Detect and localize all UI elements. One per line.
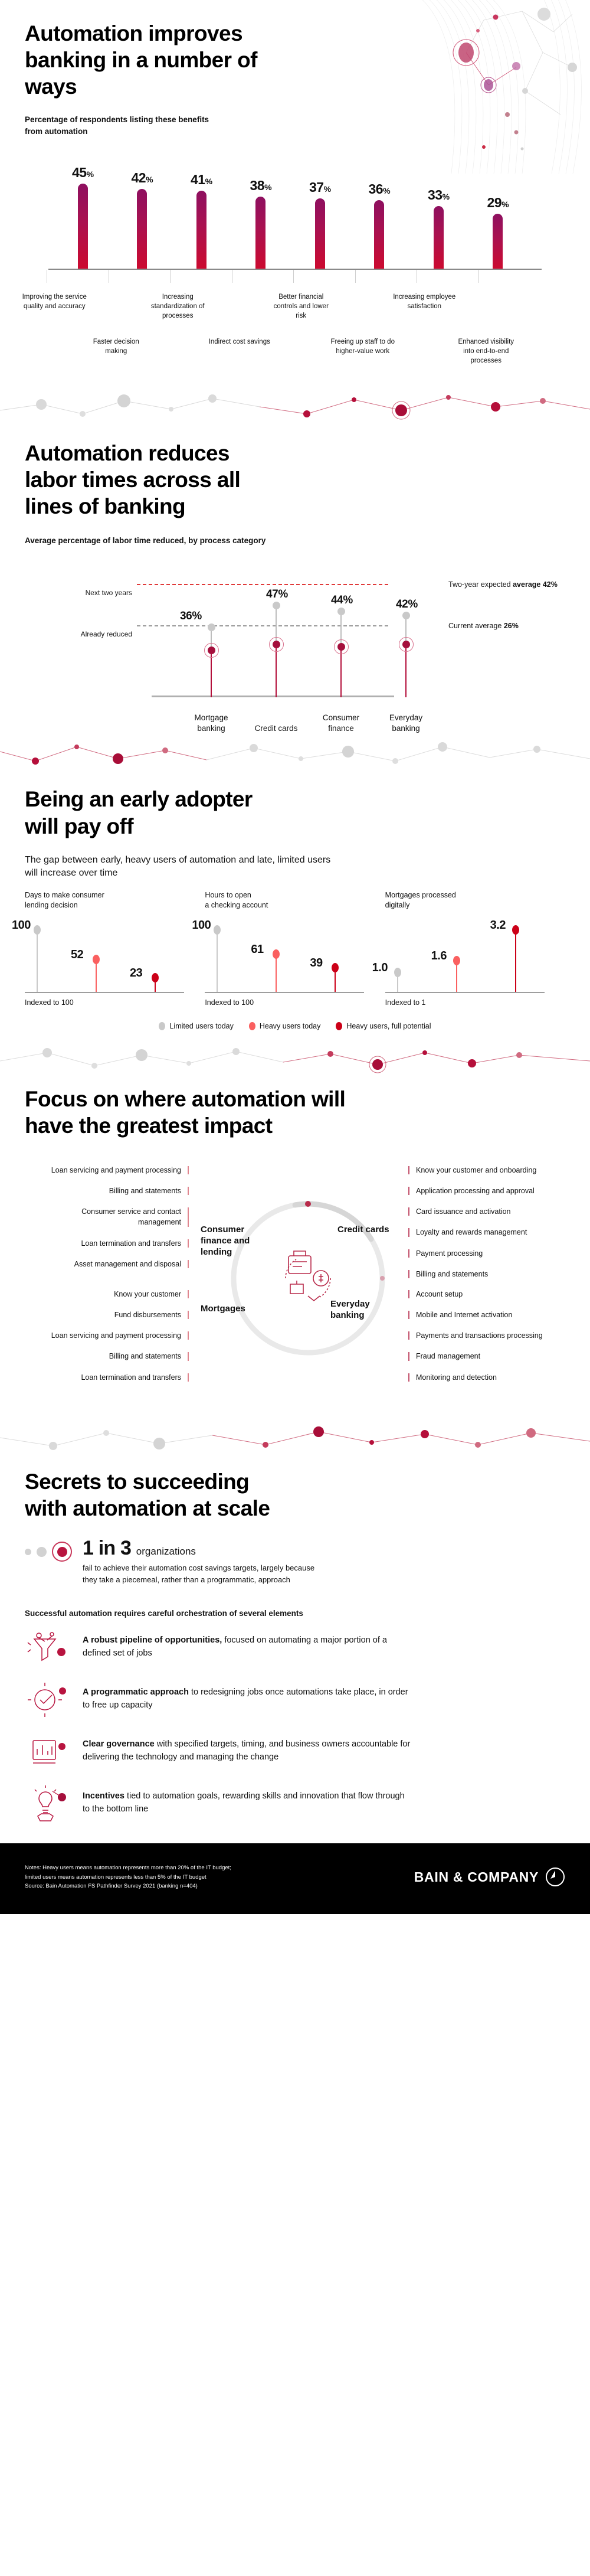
wheel-list-item: Loan termination and transfers <box>37 1372 189 1383</box>
bar-category-label: Better financial controls and lower risk <box>268 292 334 321</box>
element-text: A robust pipeline of opportunities, focu… <box>83 1628 413 1660</box>
wheel-list-item: Know your customer <box>37 1289 189 1300</box>
wheel-list-item: Mobile and Internet activation <box>408 1310 560 1320</box>
legend-label: Limited users today <box>169 1022 233 1030</box>
row-label-already-reduced: Already reduced <box>38 630 132 638</box>
bar-column: 29% <box>468 151 528 269</box>
adoption-value-label: 100 <box>192 919 211 932</box>
section3-subtitle: The gap between early, heavy users of au… <box>25 854 343 880</box>
adoption-stem <box>456 961 457 992</box>
element-text: Incentives tied to automation goals, rew… <box>83 1784 413 1816</box>
wheel-list-item: Loan servicing and payment processing <box>37 1330 189 1341</box>
labor-dot-future <box>402 612 410 619</box>
stat-block: 1 in 3 organizations fail to achieve the… <box>25 1538 565 1585</box>
note-current-line2: 26% <box>504 622 519 630</box>
note-current-line1: Current average <box>448 622 501 630</box>
labor-value-label: 36% <box>180 610 202 623</box>
wheel-list-item: Account setup <box>408 1289 560 1300</box>
bar-value-label: 38% <box>250 178 271 194</box>
adoption-value-label: 1.6 <box>431 949 447 963</box>
stat-dot-highlight <box>52 1542 72 1562</box>
labor-stem-current <box>340 647 342 698</box>
incentives-lightbulb-icon <box>25 1784 70 1823</box>
adoption-stem <box>217 930 218 992</box>
divider-network-1 <box>0 387 590 429</box>
bar <box>315 198 325 268</box>
stat-dot-small <box>25 1549 31 1555</box>
bar-tick <box>109 270 109 283</box>
labor-column: 36%Mortgage banking <box>211 628 212 698</box>
adoption-dot <box>93 955 100 964</box>
adoption-stem <box>335 968 336 992</box>
adoption-dot <box>214 925 221 935</box>
bar <box>78 184 88 269</box>
elements-heading: Successful automation requires careful o… <box>25 1609 565 1618</box>
element-row: A programmatic approach to redesigning j… <box>25 1680 565 1719</box>
labor-dot-current <box>402 641 410 648</box>
bar <box>493 214 503 269</box>
adoption-index-note: Indexed to 100 <box>205 998 385 1007</box>
element-bold: A programmatic approach <box>83 1687 189 1697</box>
stat-dot-medium <box>37 1547 47 1557</box>
legend-item: Heavy users today <box>249 1022 321 1030</box>
wheel-list-item: Fraud management <box>408 1351 560 1362</box>
labor-column: 42%Everyday banking <box>405 616 407 698</box>
wheel-list-item: Asset management and disposal <box>37 1259 189 1269</box>
labor-axis <box>152 696 394 697</box>
adoption-dot <box>453 956 460 965</box>
labor-dot-current <box>273 641 280 648</box>
bar <box>137 189 147 268</box>
bar-tick <box>417 270 417 283</box>
labor-dot-future <box>208 623 215 631</box>
legend-label: Heavy users today <box>260 1022 321 1030</box>
adoption-dot <box>273 949 280 959</box>
bar <box>434 206 444 269</box>
wheel-list-item: Loyalty and rewards management <box>408 1227 560 1238</box>
section-labor-times: Automation reduces labor times across al… <box>0 429 590 739</box>
divider-network-2 <box>0 735 590 778</box>
adoption-value-label: 1.0 <box>372 961 388 975</box>
wheel-list-item: Payment processing <box>408 1248 560 1259</box>
labor-stem-current <box>276 645 277 697</box>
adoption-stem <box>96 959 97 992</box>
bar-tick <box>293 270 294 283</box>
bar-category-label: Increasing employee satisfaction <box>391 292 457 312</box>
wheel-list-item: Card issuance and activation <box>408 1206 560 1217</box>
labor-dot-future <box>337 608 345 615</box>
footer-note-line2: limited users means automation represent… <box>25 1873 231 1882</box>
adoption-legend: Limited users todayHeavy users todayHeav… <box>25 1022 565 1030</box>
wheel-label-everyday-banking: Everyday banking <box>330 1298 389 1321</box>
labor-value-label: 44% <box>331 594 353 607</box>
note-two-year-line2: average 42% <box>513 580 558 589</box>
adoption-value-label: 3.2 <box>490 919 506 932</box>
adoption-panel-title: Days to make consumerlending decision <box>25 890 205 913</box>
adoption-value-label: 39 <box>310 956 322 970</box>
section1-title: Automation improves banking in a number … <box>25 20 296 100</box>
element-text: Clear governance with specified targets,… <box>83 1732 413 1764</box>
bar-value-label: 42% <box>131 170 153 186</box>
bain-logo: BAIN & COMPANY <box>414 1867 565 1887</box>
page-footer: Notes: Heavy users means automation repr… <box>0 1843 590 1914</box>
bar-category-label: Increasing standardization of processes <box>145 292 211 321</box>
current-average-line <box>137 625 388 626</box>
element-rest: tied to automation goals, rewarding skil… <box>83 1791 405 1813</box>
section-early-adopter: Being an early adopter will pay off The … <box>0 778 590 1030</box>
adoption-plot: 1.01.63.2 <box>385 921 565 992</box>
two-year-average-line <box>137 584 388 585</box>
wheel-list-item: Billing and statements <box>37 1186 189 1196</box>
wheel-label-consumer-finance: Consumer finance and lending <box>201 1224 257 1258</box>
adoption-baseline <box>25 992 184 993</box>
stat-dot-group <box>25 1538 72 1562</box>
footer-notes: Notes: Heavy users means automation repr… <box>25 1863 231 1891</box>
bar-tick <box>47 270 47 283</box>
adoption-stem <box>515 930 516 992</box>
divider-network-4 <box>0 1420 590 1462</box>
labor-value-label: 47% <box>266 588 288 601</box>
adoption-value-label: 23 <box>130 967 142 980</box>
legend-item: Heavy users, full potential <box>336 1022 431 1030</box>
bar-tick-group <box>48 270 542 283</box>
bar-value-label: 37% <box>309 179 331 195</box>
footer-note-line1: Notes: Heavy users means automation repr… <box>25 1863 231 1873</box>
wheel-list-item: Billing and statements <box>37 1351 189 1362</box>
bar-column: 37% <box>290 151 350 269</box>
wheel-list-item: Payments and transactions processing <box>408 1330 560 1341</box>
adoption-gap-charts: Days to make consumerlending decision100… <box>25 890 565 1007</box>
bar-column: 41% <box>172 151 231 269</box>
section2-title: Automation reduces labor times across al… <box>25 440 273 520</box>
element-bold: Incentives <box>83 1791 124 1801</box>
adoption-plot: 1005223 <box>25 921 205 992</box>
bar-tick <box>232 270 232 283</box>
wheel-list-item: Application processing and approval <box>408 1186 560 1196</box>
section-secrets: Secrets to succeeding with automation at… <box>0 1462 590 1823</box>
programmatic-check-icon <box>25 1680 70 1719</box>
adoption-dot <box>152 973 159 982</box>
legend-dot <box>159 1022 165 1030</box>
bar-category-label: Indirect cost savings <box>206 337 273 347</box>
labor-column: 47%Credit cards <box>276 606 277 697</box>
section-automation-benefits: Automation improves banking in a number … <box>0 0 590 387</box>
bar-value-label: 45% <box>72 165 94 181</box>
bar-value-label: 41% <box>191 172 212 188</box>
brand-name: BAIN & COMPANY <box>414 1869 539 1885</box>
wheel-list-item: Monitoring and detection <box>408 1372 560 1383</box>
adoption-panel: Hours to opena checking account1006139In… <box>205 890 385 1007</box>
elements-list: A robust pipeline of opportunities, focu… <box>25 1628 565 1823</box>
labor-dot-future <box>273 602 280 609</box>
wheel-list-top-right: Know your customer and onboardingApplica… <box>408 1165 560 1289</box>
bar-column: 38% <box>231 151 291 269</box>
wheel-list-item: Loan termination and transfers <box>37 1238 189 1249</box>
legend-dot <box>336 1022 342 1030</box>
adoption-value-label: 100 <box>12 919 31 932</box>
bar-column: 45% <box>53 151 113 269</box>
bar-category-label: Improving the service quality and accura… <box>21 292 87 312</box>
adoption-dot <box>332 963 339 972</box>
wheel-list-item: Billing and statements <box>408 1269 560 1279</box>
adoption-dot <box>512 925 519 935</box>
labor-dot-current <box>208 647 215 654</box>
element-row: Incentives tied to automation goals, rew… <box>25 1784 565 1823</box>
divider-network-3 <box>0 1040 590 1082</box>
bar-tick <box>170 270 171 283</box>
adoption-baseline <box>205 992 364 993</box>
adoption-index-note: Indexed to 100 <box>25 998 205 1007</box>
labor-column: 44%Consumer finance <box>340 612 342 697</box>
bar-category-label: Freeing up staff to do higher-value work <box>330 337 396 357</box>
element-bold: A robust pipeline of opportunities, <box>83 1635 222 1645</box>
stat-number: 1 in 3 <box>83 1537 131 1559</box>
labor-dot-current <box>337 643 345 651</box>
hero-network-graphic <box>395 0 590 174</box>
bar-column: 42% <box>113 151 172 269</box>
adoption-stem <box>37 930 38 992</box>
labor-category-label: Everyday banking <box>376 713 435 734</box>
bar-group: 45%42%41%38%37%36%33%29% <box>25 151 565 269</box>
wheel-label-credit-cards: Credit cards <box>337 1224 408 1235</box>
benefits-bar-chart: 45%42%41%38%37%36%33%29% <box>25 151 565 292</box>
bar <box>255 197 265 269</box>
section3-title: Being an early adopter will pay off <box>25 786 273 839</box>
wheel-list-item: Know your customer and onboarding <box>408 1165 560 1176</box>
wheel-list-top-left: Loan servicing and payment processingBil… <box>37 1165 189 1279</box>
note-two-year-average: Two-year expected average 42% <box>448 579 558 590</box>
stat-text-block: 1 in 3 organizations fail to achieve the… <box>83 1538 330 1585</box>
labor-value-label: 42% <box>396 598 418 611</box>
bain-mark-icon <box>545 1867 565 1887</box>
legend-item: Limited users today <box>159 1022 233 1030</box>
labor-category-label: Mortgage banking <box>182 713 241 734</box>
adoption-dot <box>394 968 401 977</box>
stat-unit: organizations <box>136 1546 196 1557</box>
section5-title: Secrets to succeeding with automation at… <box>25 1468 290 1522</box>
governance-chart-icon <box>25 1732 70 1771</box>
impact-wheel-area: Consumer finance and lending Credit card… <box>25 1154 565 1420</box>
note-current-average: Current average 26% <box>448 621 558 631</box>
labor-stem-current <box>211 651 212 697</box>
element-row: Clear governance with specified targets,… <box>25 1732 565 1771</box>
bar-tick <box>355 270 356 283</box>
adoption-value-label: 61 <box>251 943 263 956</box>
bar-column: 36% <box>350 151 409 269</box>
bar-value-label: 33% <box>428 187 450 203</box>
adoption-panel: Mortgages processeddigitally1.01.63.2Ind… <box>385 890 565 1007</box>
pipeline-funnel-icon <box>25 1628 70 1667</box>
row-label-next-two-years: Next two years <box>38 589 132 597</box>
labor-category-label: Credit cards <box>247 723 306 734</box>
section4-title: Focus on where automation will have the … <box>25 1086 391 1139</box>
adoption-dot <box>34 925 41 935</box>
wheel-list-item: Consumer service and contact management <box>37 1206 189 1227</box>
adoption-panel: Days to make consumerlending decision100… <box>25 890 205 1007</box>
adoption-panel-title: Hours to opena checking account <box>205 890 385 913</box>
adoption-panel-title: Mortgages processeddigitally <box>385 890 565 913</box>
footer-source-line: Source: Bain Automation FS Pathfinder Su… <box>25 1882 231 1891</box>
adoption-stem <box>276 954 277 992</box>
adoption-stem <box>397 972 398 992</box>
bar-category-labels: Improving the service quality and accura… <box>25 292 565 387</box>
adoption-index-note: Indexed to 1 <box>385 998 565 1007</box>
adoption-value-label: 52 <box>71 948 83 962</box>
wheel-list-item: Fund disbursements <box>37 1310 189 1320</box>
bar <box>196 191 206 268</box>
infographic-page: Automation improves banking in a number … <box>0 0 590 1914</box>
bar-value-label: 36% <box>368 181 390 197</box>
bar-value-label: 29% <box>487 195 509 211</box>
legend-label: Heavy users, full potential <box>346 1022 431 1030</box>
bar <box>374 200 384 268</box>
labor-category-label: Consumer finance <box>312 713 371 734</box>
adoption-stem <box>155 978 156 992</box>
wheel-list-bottom-left: Know your customerFund disbursementsLoan… <box>37 1289 189 1393</box>
bar-tick <box>478 270 479 283</box>
labor-time-chart: Next two years Already reduced Two-year … <box>25 561 565 739</box>
element-row: A robust pipeline of opportunities, focu… <box>25 1628 565 1667</box>
bar-column: 33% <box>409 151 468 269</box>
adoption-plot: 1006139 <box>205 921 385 992</box>
section-impact-wheel: Focus on where automation will have the … <box>0 1082 590 1420</box>
element-text: A programmatic approach to redesigning j… <box>83 1680 413 1712</box>
stat-description: fail to achieve their automation cost sa… <box>83 1562 330 1585</box>
adoption-baseline <box>385 992 545 993</box>
stat-headline: 1 in 3 organizations <box>83 1538 330 1558</box>
wheel-list-bottom-right: Account setupMobile and Internet activat… <box>408 1289 560 1393</box>
wheel-label-mortgages: Mortgages <box>201 1303 260 1314</box>
section2-subtitle: Average percentage of labor time reduced… <box>25 535 565 547</box>
labor-stem-current <box>405 645 407 697</box>
legend-dot <box>249 1022 255 1030</box>
element-bold: Clear governance <box>83 1739 155 1749</box>
bar-category-label: Enhanced visibility into end-to-end proc… <box>453 337 519 366</box>
note-two-year-line1: Two-year expected <box>448 580 511 589</box>
bar-category-label: Faster decision making <box>83 337 149 357</box>
section1-subtitle: Percentage of respondents listing these … <box>25 114 219 137</box>
wheel-list-item: Loan servicing and payment processing <box>37 1165 189 1176</box>
